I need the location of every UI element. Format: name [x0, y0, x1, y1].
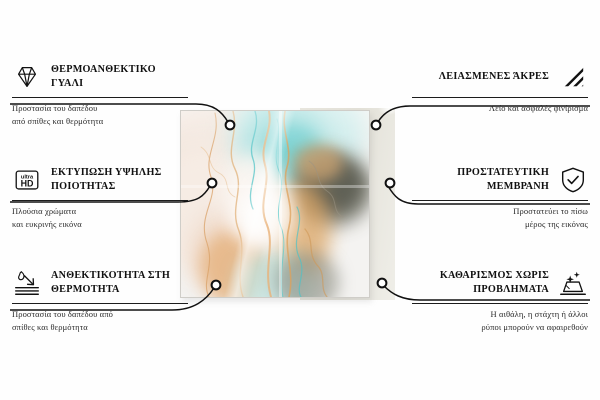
feature-body-line: Λείο και ασφαλές φινίρισμα [412, 102, 588, 115]
feature-header: ultra HD ΕΚΤΥΠΩΣΗ ΥΨΗΛΗΣ ΠΟΙΟΤΗΤΑΣ [12, 163, 188, 197]
feature-high-quality-print: ultra HD ΕΚΤΥΠΩΣΗ ΥΨΗΛΗΣ ΠΟΙΟΤΗΤΑΣ Πλούσ… [12, 163, 188, 231]
feature-body: Προστατεύει το πίσω μέρος της εικόνας [412, 205, 588, 231]
feature-protective-membrane: ΠΡΟΣΤΑΤΕΥΤΙΚΗ ΜΕΜΒΡΑΝΗ Προστατεύει το πί… [412, 163, 588, 231]
feature-body-line: σπίθες και θερμότητα [12, 321, 188, 334]
feature-title: ΛΕΙΑΣΜΕΝΕΣ ΆΚΡΕΣ [412, 70, 549, 84]
feature-body-line: Προστασία του δαπέδου από [12, 308, 188, 321]
feature-divider [412, 303, 588, 304]
feature-divider [12, 303, 188, 304]
feature-body-line: και ευκρινής εικόνα [12, 218, 188, 231]
feature-polished-edges: ΛΕΙΑΣΜΕΝΕΣ ΆΚΡΕΣ Λείο και ασφαλές φινίρι… [412, 60, 588, 115]
feature-divider [412, 200, 588, 201]
product-image [180, 110, 395, 300]
feature-body-line: Η αιθάλη, η στάχτη ή άλλοι [412, 308, 588, 321]
flame-deflect-icon [12, 268, 42, 298]
glass-sheen [181, 111, 369, 297]
feature-hassle-free-cleaning: ΚΑΘΑΡΙΣΜΟΣ ΧΩΡΙΣ ΠΡΟΒΛΗΜΑΤΑ Η αιθάλη, η … [412, 266, 588, 334]
sponge-sparkle-icon [558, 268, 588, 298]
ultra-hd-icon: ultra HD [12, 165, 42, 195]
shield-check-icon [558, 165, 588, 195]
feature-header: ΑΝΘΕΚΤΙΚΟΤΗΤΑ ΣΤΗ ΘΕΡΜΟΤΗΤΑ [12, 266, 188, 300]
feature-body: Προστασία του δαπέδου από σπίθες και θερ… [12, 102, 188, 128]
feature-heat-durability: ΑΝΘΕΚΤΙΚΟΤΗΤΑ ΣΤΗ ΘΕΡΜΟΤΗΤΑ Προστασία το… [12, 266, 188, 334]
feature-header: ΚΑΘΑΡΙΣΜΟΣ ΧΩΡΙΣ ΠΡΟΒΛΗΜΑΤΑ [412, 266, 588, 300]
glass-highlight [378, 103, 400, 115]
feature-header: ΛΕΙΑΣΜΕΝΕΣ ΆΚΡΕΣ [412, 60, 588, 94]
feature-title: ΘΕΡΜΟΑΝΘΕΚΤΙΚΟ ΓΥΑΛΙ [51, 63, 188, 90]
feature-title: ΑΝΘΕΚΤΙΚΟΤΗΤΑ ΣΤΗ ΘΕΡΜΟΤΗΤΑ [51, 269, 188, 296]
striped-triangle-icon [558, 62, 588, 92]
feature-divider [12, 200, 188, 201]
feature-body-line: ρύποι μπορούν να αφαιρεθούν [412, 321, 588, 334]
feature-heat-resistant-glass: ΘΕΡΜΟΑΝΘΕΚΤΙΚΟ ΓΥΑΛΙ Προστασία του δαπέδ… [12, 60, 188, 128]
feature-body-line: μέρος της εικόνας [412, 218, 588, 231]
feature-body: Πλούσια χρώματα και ευκρινής εικόνα [12, 205, 188, 231]
feature-divider [412, 97, 588, 98]
feature-header: ΠΡΟΣΤΑΤΕΥΤΙΚΗ ΜΕΜΒΡΑΝΗ [412, 163, 588, 197]
feature-body: Προστασία του δαπέδου από σπίθες και θερ… [12, 308, 188, 334]
glass-panel [180, 110, 370, 298]
feature-title: ΕΚΤΥΠΩΣΗ ΥΨΗΛΗΣ ΠΟΙΟΤΗΤΑΣ [51, 166, 188, 193]
feature-divider [12, 97, 188, 98]
feature-body-line: Προστασία του δαπέδου [12, 102, 188, 115]
feature-body-line: από σπίθες και θερμότητα [12, 115, 188, 128]
infographic-stage: ΘΕΡΜΟΑΝΘΕΚΤΙΚΟ ΓΥΑΛΙ Προστασία του δαπέδ… [0, 0, 600, 400]
feature-header: ΘΕΡΜΟΑΝΘΕΚΤΙΚΟ ΓΥΑΛΙ [12, 60, 188, 94]
feature-body: Η αιθάλη, η στάχτη ή άλλοι ρύποι μπορούν… [412, 308, 588, 334]
feature-title: ΚΑΘΑΡΙΣΜΟΣ ΧΩΡΙΣ ΠΡΟΒΛΗΜΑΤΑ [412, 269, 549, 296]
feature-body-line: Πλούσια χρώματα [12, 205, 188, 218]
feature-body: Λείο και ασφαλές φινίρισμα [412, 102, 588, 115]
diamond-icon [12, 62, 42, 92]
feature-title: ΠΡΟΣΤΑΤΕΥΤΙΚΗ ΜΕΜΒΡΑΝΗ [412, 166, 549, 193]
feature-body-line: Προστατεύει το πίσω [412, 205, 588, 218]
hd-label: HD [21, 179, 34, 189]
